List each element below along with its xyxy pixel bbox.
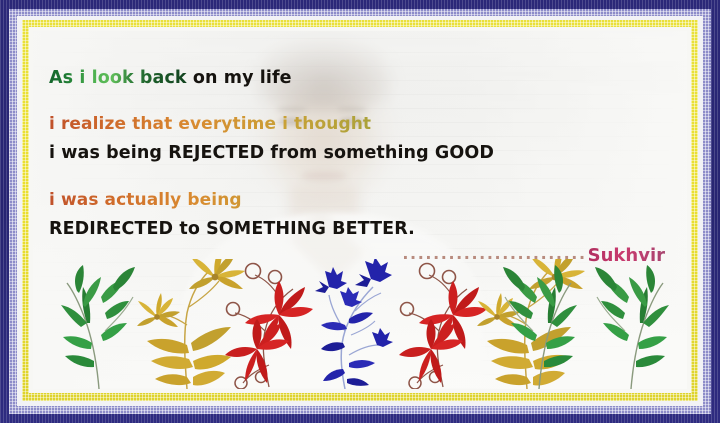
quote-text-block: As i look back on my life i realize that… <box>49 65 639 242</box>
signature-dots: ........................ <box>402 244 586 263</box>
quote-card: As i look back on my life i realize that… <box>33 31 687 389</box>
signature: ........................ Sukhvir <box>402 245 665 266</box>
quote-line-2: i realize that everytime i thought <box>49 111 639 137</box>
decorative-photo-frame: As i look back on my life i realize that… <box>0 0 720 423</box>
quote-line-3: i was being REJECTED from something GOOD <box>49 140 639 166</box>
quote-line-1-segment-2: on my life <box>193 68 292 88</box>
quote-line-1: As i look back on my life <box>49 65 639 91</box>
quote-line-5: REDIRECTED to SOMETHING BETTER. <box>49 216 639 242</box>
quote-line-1-segment-1: As i look back <box>49 68 193 88</box>
quote-line-4: i was actually being <box>49 187 639 213</box>
signature-name: Sukhvir <box>588 245 665 266</box>
